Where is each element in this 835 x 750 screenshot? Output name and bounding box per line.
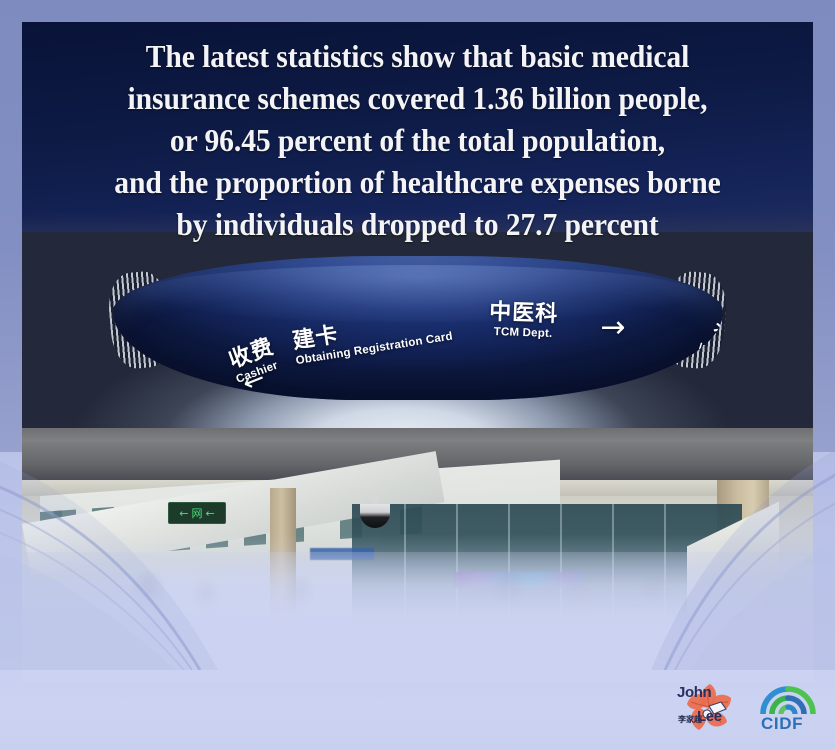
cidf-logo[interactable]: CIDF	[757, 678, 819, 736]
headline-line-1: The latest statistics show that basic me…	[46, 36, 790, 78]
poster-root: The latest statistics show that basic me…	[0, 0, 835, 750]
headline-line-2: insurance schemes covered 1.36 billion p…	[46, 78, 790, 120]
sign-tcm-cn: 中医科	[488, 301, 558, 325]
sign-tcm-en: TCM Dept.	[488, 327, 557, 341]
sign-cashier: 收费 Cashier	[225, 335, 281, 386]
hospital-photo: ← 收费 Cashier 建卡 Obtaining Registration C…	[22, 232, 813, 684]
headline-text: The latest statistics show that basic me…	[46, 36, 790, 246]
security-camera-icon	[360, 494, 390, 528]
exit-sign-glyph: 网	[192, 508, 203, 519]
exit-sign: ← 网 ←	[168, 502, 226, 524]
john-lee-logo[interactable]: John 李家超 Lee	[677, 678, 743, 736]
frame-top-border	[0, 0, 835, 22]
frame-left-border	[0, 0, 22, 452]
sign-tcm: 中医科 TCM Dept.	[488, 301, 558, 341]
logo-row: John 李家超 Lee CIDF	[677, 678, 819, 736]
tcm-arrow-icon: →	[601, 310, 626, 345]
exit-arrow-left-icon: ←	[179, 508, 188, 519]
john-lee-logo-line2: Lee	[697, 708, 722, 725]
arc-fan-icon	[759, 678, 817, 714]
john-lee-logo-line1: John	[677, 684, 711, 701]
headline-line-5: by individuals dropped to 27.7 percent	[46, 204, 790, 246]
photo-bottom-fade	[22, 534, 813, 684]
exit-arrow-right-icon: ←	[206, 508, 215, 519]
frame-right-border	[813, 0, 835, 452]
camera-dome	[360, 504, 390, 528]
overhead-signage-band: ← 收费 Cashier 建卡 Obtaining Registration C…	[113, 256, 723, 400]
cidf-logo-label: CIDF	[761, 714, 803, 734]
headline-line-3: or 96.45 percent of the total population…	[46, 120, 790, 162]
headline-line-4: and the proportion of healthcare expense…	[46, 162, 790, 204]
headline-panel: The latest statistics show that basic me…	[22, 22, 813, 246]
